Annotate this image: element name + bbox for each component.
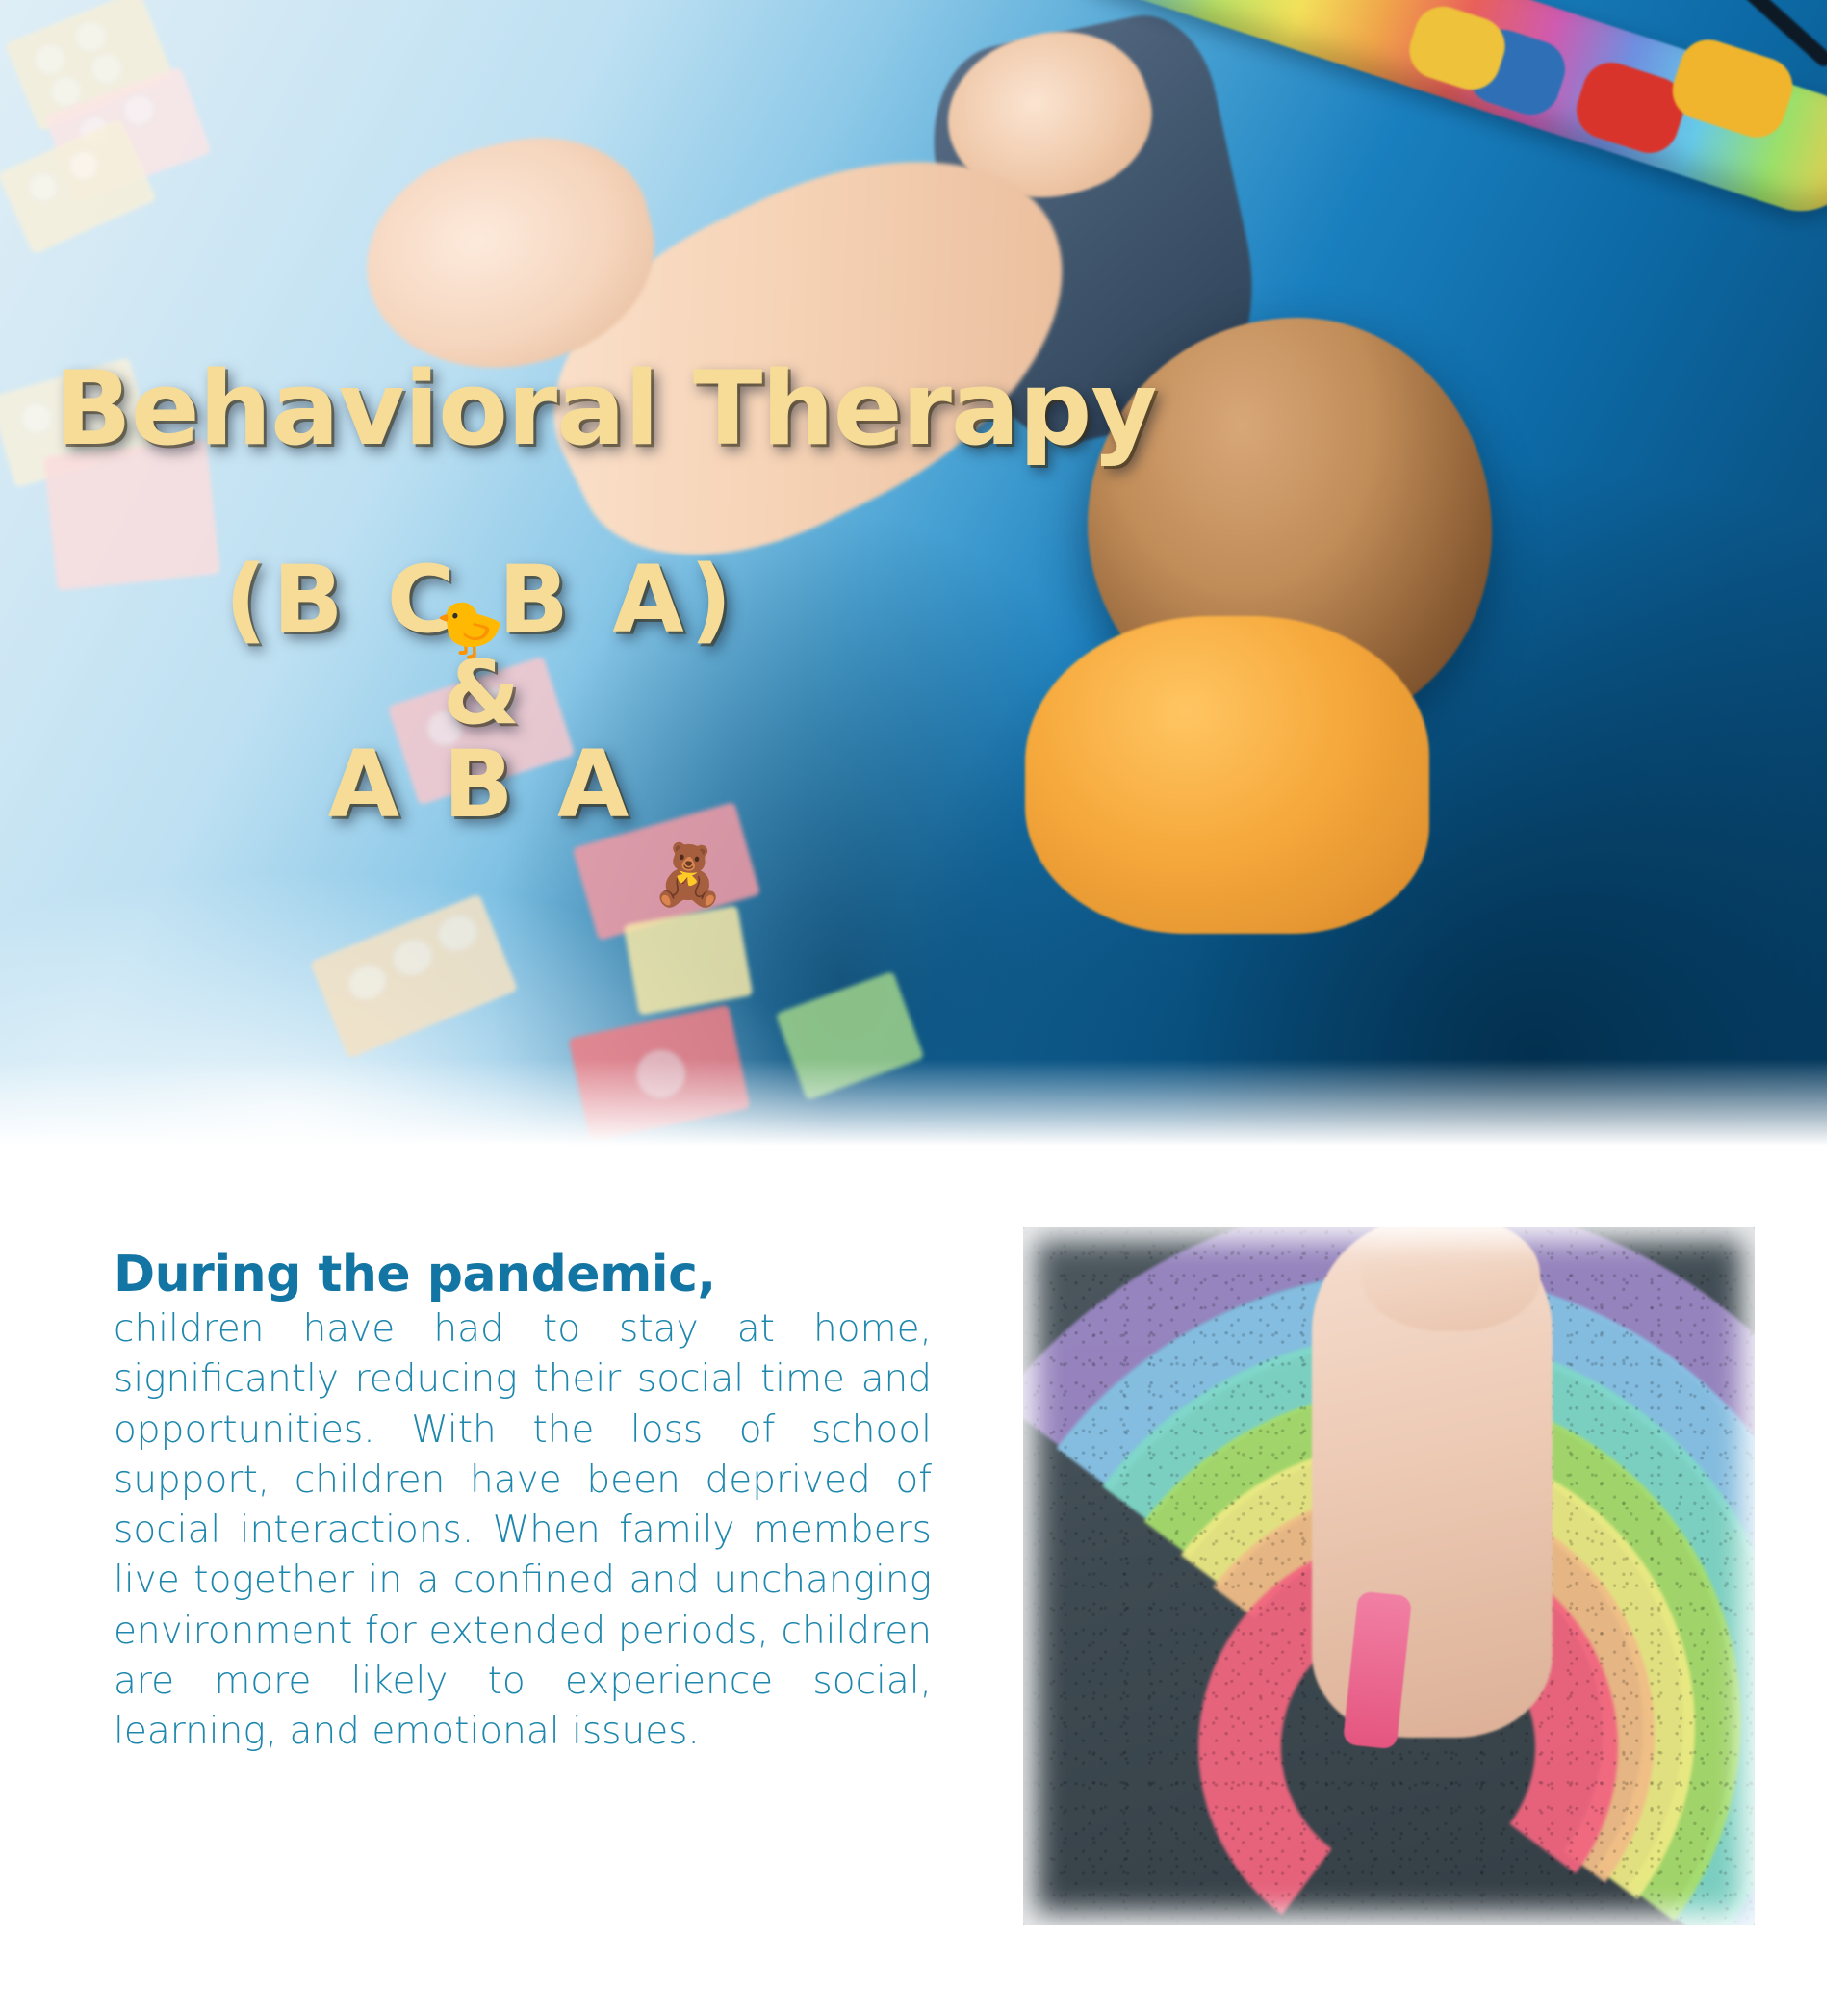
content-section: During the pandemic, children have had t… bbox=[0, 1146, 1848, 2012]
poster-page: Behavioral Therapy (B C B A) & A B A 🐤 🧸… bbox=[0, 0, 1848, 2012]
toy-brick-icon bbox=[43, 439, 220, 590]
chalk-rainbow-photo bbox=[1023, 1227, 1755, 1925]
hero-banner: Behavioral Therapy (B C B A) & A B A 🐤 🧸 bbox=[0, 0, 1827, 1146]
section-body-paragraph: children have had to stay at home, signi… bbox=[114, 1304, 932, 1757]
toy-brick-icon bbox=[624, 905, 754, 1015]
toy-brick-icon bbox=[310, 893, 519, 1058]
copy-block: During the pandemic, children have had t… bbox=[114, 1247, 932, 1757]
child-shirt bbox=[1025, 616, 1429, 934]
toy-brick-icon bbox=[387, 656, 575, 805]
section-lead-heading: During the pandemic, bbox=[114, 1247, 932, 1303]
child-bare-foot bbox=[1362, 1227, 1540, 1331]
hero-bottom-fade bbox=[0, 1059, 1827, 1146]
hero-photo-child-playing-with-blocks bbox=[0, 0, 1827, 1146]
